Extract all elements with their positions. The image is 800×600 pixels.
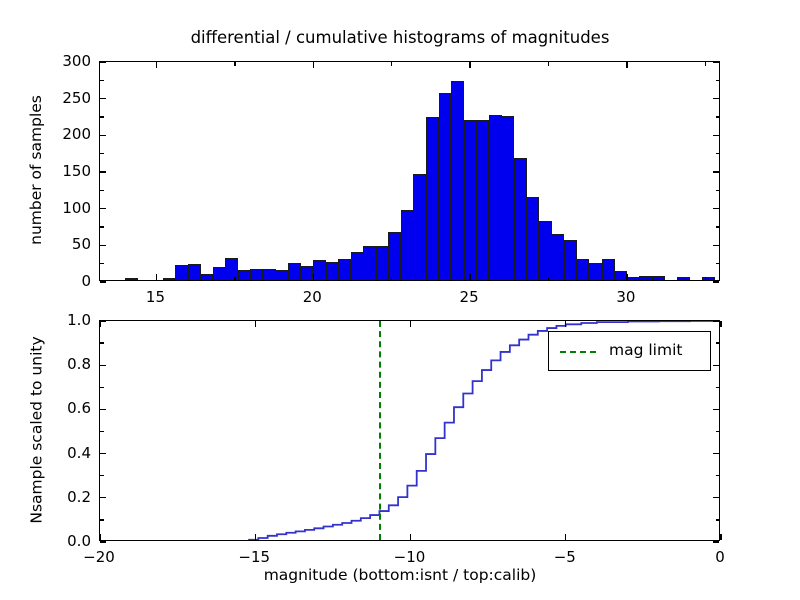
axis-tick [100, 475, 104, 476]
axis-tick [156, 62, 157, 68]
histogram-bar [526, 197, 539, 280]
x-tick-label: −10 [394, 548, 426, 566]
axis-tick [705, 277, 706, 281]
histogram-bar [250, 269, 263, 280]
axis-tick [713, 497, 719, 498]
histogram-bar [627, 277, 640, 280]
axis-tick [100, 61, 106, 62]
page-title: differential / cumulative histograms of … [0, 28, 800, 47]
axis-tick [100, 519, 104, 520]
axis-tick [391, 277, 392, 281]
histogram-bar [464, 120, 477, 280]
axis-tick [716, 387, 720, 388]
histogram-bar [225, 258, 238, 280]
axis-tick [716, 226, 720, 227]
axis-tick [100, 365, 106, 366]
axis-tick [720, 534, 721, 540]
histogram-bar [351, 252, 364, 280]
legend[interactable]: mag limit [548, 331, 711, 371]
axis-tick [100, 171, 106, 172]
axis-tick [99, 534, 100, 540]
axis-tick [716, 116, 720, 117]
axis-tick [548, 62, 549, 66]
axis-tick [565, 321, 566, 327]
histogram-bar [326, 262, 339, 280]
top-y-axis-label: number of samples [27, 60, 45, 280]
axis-tick [100, 98, 106, 99]
legend-item-label: mag limit [609, 341, 682, 359]
x-tick-label: −5 [554, 548, 576, 566]
histogram-bar [163, 278, 176, 280]
axis-tick [713, 208, 719, 209]
axis-tick [255, 321, 256, 327]
histogram-bar [602, 259, 615, 280]
axis-tick [469, 62, 470, 68]
axis-tick [713, 320, 719, 321]
histogram-bar [401, 210, 414, 280]
axis-tick [100, 541, 106, 542]
axis-tick [716, 431, 720, 432]
axis-tick [100, 453, 106, 454]
axis-tick [410, 321, 411, 327]
axis-tick [716, 342, 720, 343]
x-tick-label: 15 [146, 288, 165, 306]
axis-tick [100, 497, 106, 498]
histogram-bar [589, 263, 602, 280]
histogram-bar [125, 278, 138, 280]
histogram-bar [275, 270, 288, 280]
axis-tick [716, 80, 720, 81]
axis-tick [626, 62, 627, 68]
axis-tick [469, 274, 470, 280]
x-tick-label: 0 [715, 548, 725, 566]
axis-tick [713, 171, 719, 172]
histogram-bars-container [100, 62, 719, 280]
histogram-bar [551, 234, 564, 280]
axis-tick [548, 277, 549, 281]
axis-tick [410, 534, 411, 540]
y-tick-label: 0 [37, 272, 91, 290]
histogram-bar [263, 269, 276, 280]
histogram-bar [188, 264, 201, 280]
histogram-bar [301, 266, 314, 280]
axis-tick [100, 80, 104, 81]
axis-tick [234, 62, 235, 66]
axis-tick [100, 245, 106, 246]
histogram-bar [451, 81, 464, 280]
axis-tick [716, 475, 720, 476]
axis-tick [716, 263, 720, 264]
axis-tick [713, 365, 719, 366]
axis-tick [313, 62, 314, 68]
histogram-bar [677, 277, 690, 280]
axis-tick [713, 453, 719, 454]
y-tick-label: 250 [37, 89, 91, 107]
axis-tick [100, 226, 104, 227]
axis-tick [720, 321, 721, 327]
histogram-bar [313, 260, 326, 280]
axis-tick [713, 61, 719, 62]
axis-tick [713, 541, 719, 542]
differential-histogram-axes [99, 61, 720, 281]
histogram-bar [564, 240, 577, 280]
histogram-bar [426, 117, 439, 280]
axis-tick [100, 409, 106, 410]
axis-tick [626, 274, 627, 280]
histogram-bar [363, 246, 376, 280]
histogram-bar [489, 115, 502, 280]
axis-tick [100, 342, 104, 343]
axis-tick [716, 153, 720, 154]
axis-tick [713, 409, 719, 410]
axis-tick [713, 135, 719, 136]
y-tick-label: 200 [37, 125, 91, 143]
x-tick-label: −15 [238, 548, 270, 566]
axis-tick [705, 62, 706, 66]
axis-tick [100, 431, 104, 432]
histogram-bar [288, 263, 301, 280]
axis-tick [99, 321, 100, 327]
histogram-bar [476, 120, 489, 280]
y-tick-label: 50 [37, 235, 91, 253]
legend-dashed-line-icon [560, 351, 596, 353]
histogram-bar [639, 276, 652, 280]
histogram-bar [539, 221, 552, 280]
axis-tick [100, 190, 104, 191]
axis-tick [716, 519, 720, 520]
axis-tick [255, 534, 256, 540]
axis-tick [713, 98, 719, 99]
histogram-bar [200, 274, 213, 280]
histogram-bar [577, 259, 590, 280]
histogram-bar [501, 116, 514, 280]
axis-tick [100, 387, 104, 388]
axis-tick [713, 245, 719, 246]
figure-canvas: differential / cumulative histograms of … [0, 0, 800, 600]
axis-tick [156, 274, 157, 280]
histogram-bar [413, 174, 426, 280]
histogram-bar [238, 270, 251, 280]
axis-tick [100, 135, 106, 136]
axis-tick [391, 62, 392, 66]
axis-tick [234, 277, 235, 281]
axis-tick [313, 274, 314, 280]
histogram-bar [175, 265, 188, 280]
histogram-bar [338, 259, 351, 280]
axis-tick [565, 534, 566, 540]
x-tick-label: 30 [616, 288, 635, 306]
x-tick-label: −20 [83, 548, 115, 566]
histogram-bar [213, 267, 226, 280]
bottom-y-axis-label: Nsample scaled to unity [27, 319, 45, 540]
axis-tick [100, 208, 106, 209]
histogram-bar [376, 246, 389, 280]
axis-tick [100, 281, 106, 282]
axis-tick [100, 263, 104, 264]
histogram-bar [514, 158, 527, 280]
y-tick-label: 150 [37, 162, 91, 180]
axis-tick [716, 190, 720, 191]
mag-limit-vline [379, 321, 381, 540]
histogram-bar [439, 93, 452, 280]
y-tick-label: 300 [37, 52, 91, 70]
axis-tick [713, 281, 719, 282]
bottom-x-axis-label: magnitude (bottom:isnt / top:calib) [0, 566, 800, 584]
histogram-bar [652, 276, 665, 280]
histogram-bar [388, 232, 401, 280]
y-tick-label: 100 [37, 199, 91, 217]
axis-tick [100, 153, 104, 154]
x-tick-label: 20 [303, 288, 322, 306]
axis-tick [100, 116, 104, 117]
axis-tick [100, 320, 106, 321]
x-tick-label: 25 [460, 288, 479, 306]
histogram-bar [614, 271, 627, 280]
